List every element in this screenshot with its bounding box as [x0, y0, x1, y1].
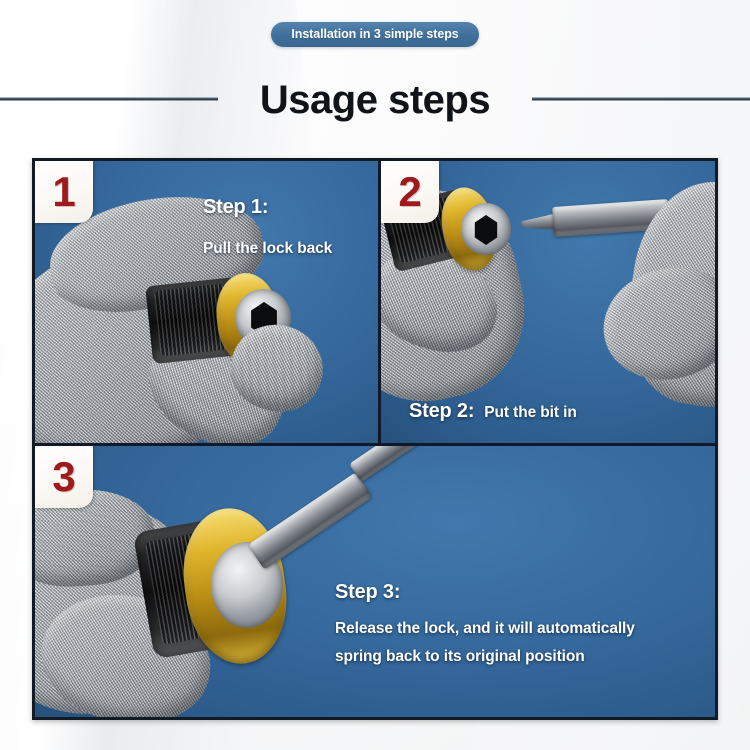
step-3-number-badge: 3 — [35, 446, 93, 508]
step-2-body: Put the bit in — [484, 403, 576, 423]
step-3-number: 3 — [52, 456, 75, 498]
steps-top-row: 1 Step 1: Pull the lock back — [35, 161, 715, 443]
step-1-caption: Step 1: Pull the lock back — [203, 195, 332, 258]
step-1-number: 1 — [52, 171, 75, 213]
step-3-body: Release the lock, and it will automatica… — [335, 619, 635, 668]
step-3-body-line-2: spring back to its original position — [335, 647, 635, 667]
step-3-heading: Step 3: — [335, 580, 635, 606]
page-title-row: Usage steps — [0, 72, 750, 128]
hex-bit-shank — [248, 472, 373, 570]
steps-photo-grid: 1 Step 1: Pull the lock back — [32, 158, 718, 720]
step-1-number-badge: 1 — [35, 161, 93, 223]
glove-right-finger — [592, 255, 715, 394]
step-1-heading: Step 1: — [203, 195, 332, 221]
step-3-caption: Step 3: Release the lock, and it will au… — [335, 580, 635, 667]
step-1-body: Pull the lock back — [203, 239, 332, 259]
step-1-panel: 1 Step 1: Pull the lock back — [35, 161, 378, 443]
page-title: Usage steps — [260, 80, 490, 120]
hex-bit-tip — [349, 446, 421, 482]
step-2-number: 2 — [398, 171, 421, 213]
step-2-number-badge: 2 — [381, 161, 439, 223]
step-2-heading: Step 2: — [409, 399, 474, 425]
installation-steps-badge: Installation in 3 simple steps — [271, 22, 478, 47]
step-2-panel: 2 Step 2: Put the bit in — [381, 161, 715, 443]
step-3-body-line-1: Release the lock, and it will automatica… — [335, 619, 635, 639]
step-3-panel: 3 Step 3: Release the lock, and it will … — [35, 446, 715, 717]
usage-steps-infographic: Installation in 3 simple steps Usage ste… — [0, 0, 750, 750]
step-2-caption: Step 2: Put the bit in — [409, 399, 577, 425]
header-badge-container: Installation in 3 simple steps — [0, 22, 750, 47]
